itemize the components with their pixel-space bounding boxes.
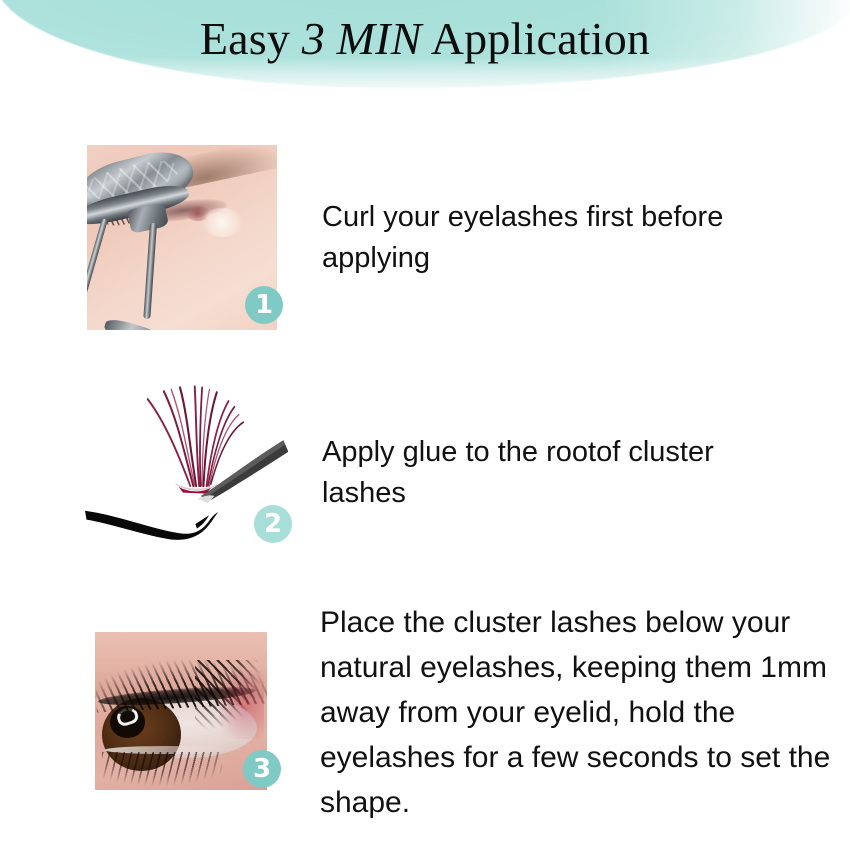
step-item-2: 2 Apply glue to the rootof cluster lashe… bbox=[0, 375, 850, 570]
step-3-text: Place the cluster lashes below your natu… bbox=[320, 600, 850, 825]
curler-arm-left bbox=[87, 218, 108, 323]
step-number-badge-3: 3 bbox=[243, 750, 281, 788]
skin-highlight bbox=[201, 208, 243, 238]
step-2-text: Apply glue to the rootof cluster lashes bbox=[322, 432, 742, 514]
title-part-1: Easy bbox=[200, 13, 302, 64]
step-1-image: 1 bbox=[87, 145, 277, 330]
pink-tint bbox=[219, 670, 264, 740]
step-1-text: Curl your eyelashes first before applyin… bbox=[322, 197, 742, 279]
page-header: Easy 3 MIN Application bbox=[0, 0, 850, 110]
step-item-3: 3 Place the cluster lashes below your na… bbox=[0, 600, 850, 830]
step-number-badge-2: 2 bbox=[254, 505, 292, 543]
title-part-2: Application bbox=[422, 13, 651, 64]
lower-lashes bbox=[102, 752, 222, 790]
step-number-badge-1: 1 bbox=[245, 286, 283, 324]
curler-handle bbox=[103, 317, 162, 330]
applied-lashes-photo bbox=[95, 632, 267, 790]
curler-arm-right bbox=[143, 222, 157, 318]
step-2-image: 2 bbox=[78, 375, 288, 545]
title-emphasis: 3 MIN bbox=[302, 13, 422, 64]
step-3-image: 3 bbox=[95, 632, 267, 790]
step-item-1: 1 Curl your eyelashes first before apply… bbox=[0, 135, 850, 365]
glue-applicator-stroke-icon bbox=[82, 499, 233, 543]
tweezer-icon bbox=[196, 436, 288, 507]
steps-list: 1 Curl your eyelashes first before apply… bbox=[0, 110, 850, 850]
page-title: Easy 3 MIN Application bbox=[0, 13, 850, 65]
